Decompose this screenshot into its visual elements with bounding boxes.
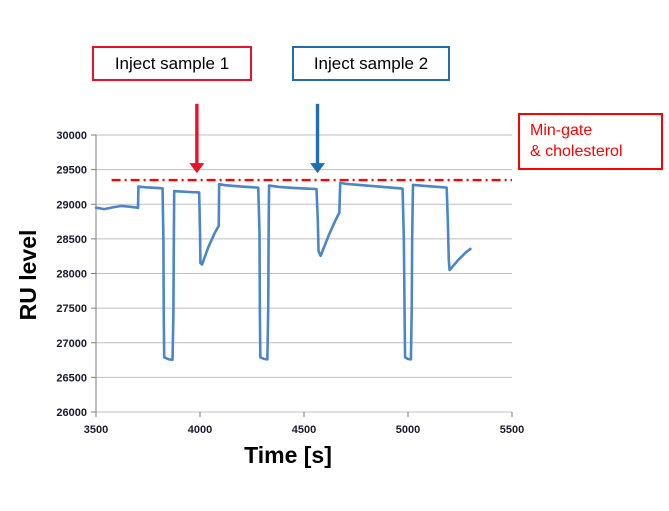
x-tick-label: 4000 <box>188 424 212 436</box>
callout-inject-sample-1: Inject sample 1 <box>92 46 252 81</box>
x-tick-label: 3500 <box>84 424 108 436</box>
y-tick-label: 26000 <box>56 407 87 419</box>
chart-figure: 3000029500290002850028000275002700026500… <box>0 0 669 511</box>
x-tick-labels-group: 35004000450050005500 <box>84 424 524 436</box>
annotation-arrow-head-1 <box>189 163 204 173</box>
annotation-arrows-group <box>189 104 325 173</box>
callout-inject-sample-1-label: Inject sample 1 <box>115 54 229 74</box>
y-tick-marks-group <box>91 135 96 412</box>
y-tick-label: 27500 <box>56 303 87 315</box>
callout-min-gate-cholesterol: Min-gate & cholesterol <box>518 113 663 170</box>
y-tick-label: 30000 <box>56 130 87 142</box>
x-tick-marks-group <box>96 412 512 417</box>
annotation-arrow-head-2 <box>310 163 325 173</box>
callout-inject-sample-2: Inject sample 2 <box>292 46 450 81</box>
callout-min-gate-line-1: Min-gate <box>530 120 653 141</box>
callout-inject-sample-2-label: Inject sample 2 <box>314 54 428 74</box>
gridlines-group <box>96 135 512 412</box>
y-tick-label: 29000 <box>56 199 87 211</box>
x-tick-label: 4500 <box>292 424 316 436</box>
x-axis-title: Time [s] <box>244 442 332 468</box>
data-series-ru-level <box>96 183 470 360</box>
y-axis-title: RU level <box>15 230 41 321</box>
y-tick-label: 28500 <box>56 234 87 246</box>
x-tick-label: 5500 <box>500 424 524 436</box>
callout-min-gate-line-2: & cholesterol <box>530 141 653 162</box>
x-tick-label: 5000 <box>396 424 420 436</box>
y-tick-labels-group: 3000029500290002850028000275002700026500… <box>56 130 87 419</box>
y-tick-label: 27000 <box>56 338 87 350</box>
y-tick-label: 28000 <box>56 269 87 281</box>
y-tick-label: 29500 <box>56 165 87 177</box>
y-tick-label: 26500 <box>56 372 87 384</box>
